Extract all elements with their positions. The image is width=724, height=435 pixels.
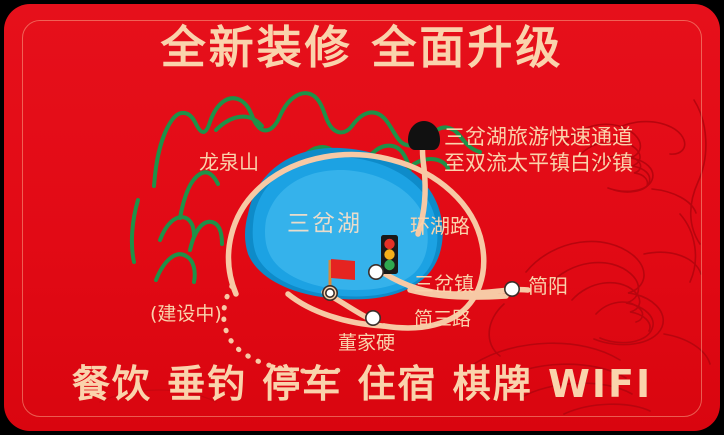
- red-card: 全新装修 全面升级: [4, 4, 720, 431]
- traffic-light-icon: [381, 235, 398, 274]
- label-under-construction: (建设中): [150, 302, 222, 326]
- label-corridor-line2: 至双流太平镇白沙镇: [444, 150, 633, 176]
- label-ring-road: 环湖路: [410, 214, 470, 238]
- label-jianyang-city: 简阳: [528, 274, 568, 298]
- label-corridor-line1: 三岔湖旅游快速通道: [444, 124, 633, 150]
- under-construction-road: [224, 286, 342, 371]
- label-jiansan-road: 简三路: [414, 307, 471, 331]
- services-banner: 餐饮 垂钓 停车 住宿 棋牌 WIFI: [4, 361, 720, 407]
- label-sancha-lake: 三岔湖: [287, 212, 362, 236]
- label-longquan-mountain: 龙泉山: [199, 150, 259, 174]
- label-sancha-town: 三岔镇: [414, 272, 474, 296]
- tunnel-icon: [408, 121, 440, 150]
- label-dongjiaying: 董家硬: [338, 331, 395, 355]
- poster-root: 全新装修 全面升级: [0, 0, 724, 435]
